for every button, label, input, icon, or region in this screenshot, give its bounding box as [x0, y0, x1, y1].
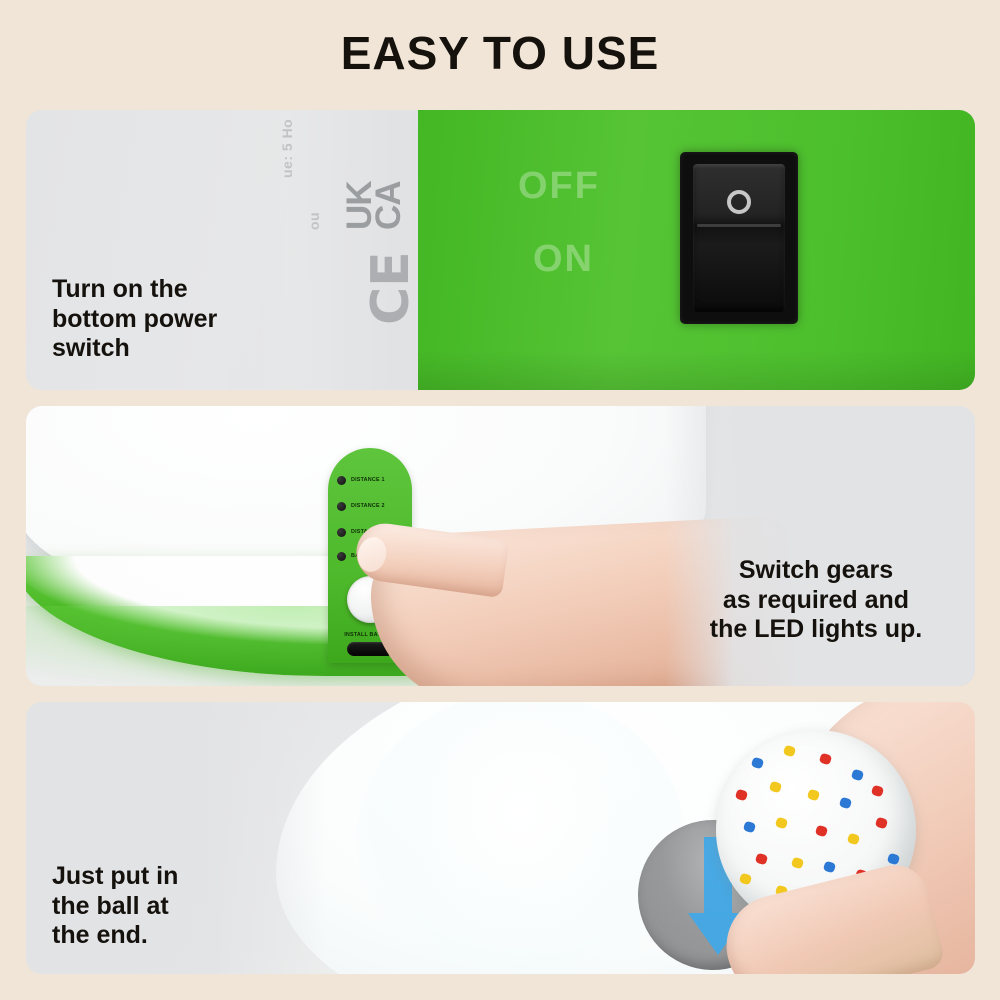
step-1-caption: Turn on the bottom power switch — [52, 275, 302, 364]
ukca-mark: UK CA — [346, 181, 403, 230]
switch-on-label: ON — [533, 238, 594, 281]
device-green-housing: OFF ON — [418, 110, 975, 390]
ball-dot — [839, 797, 853, 810]
ball-dot — [847, 833, 861, 846]
ball-dot — [755, 853, 769, 866]
ball-dot — [783, 745, 797, 758]
ball-dot — [887, 853, 901, 866]
step-panel-1: UK CA CE ou ue: 5 Ho ns OFF ON Turn on t… — [26, 110, 975, 390]
poster-root: EASY TO USE UK CA CE ou ue: 5 Ho ns OFF … — [0, 0, 1000, 1000]
led-indicator-row-2: DISTANCE 2 — [337, 502, 385, 511]
step-3-caption: Just put in the ball at the end. — [52, 862, 302, 951]
ball-dot — [775, 817, 789, 830]
step-2-caption: Switch gears as required and the LED lig… — [671, 556, 961, 645]
led-dot-icon — [337, 502, 346, 511]
ball-dot — [819, 753, 833, 766]
ce-mark-icon: CE — [361, 251, 421, 325]
led-dot-icon — [337, 476, 346, 485]
ball-dot — [815, 825, 829, 838]
power-circle-icon — [727, 190, 751, 214]
led-label-2: DISTANCE 2 — [351, 503, 385, 510]
led-dot-icon — [337, 552, 346, 561]
ball-dot — [735, 789, 749, 802]
switch-off-label: OFF — [518, 165, 600, 208]
step-panel-2: DISTANCE 1 DISTANCE 2 DISTANCE 3 BATTERY… — [26, 406, 975, 686]
label-fine-print-1: ou — [306, 212, 322, 230]
label-fine-print-2: ue: 5 Ho — [279, 119, 295, 178]
ball-dot — [769, 781, 783, 794]
ball-dot — [743, 821, 757, 834]
led-label-1: DISTANCE 1 — [351, 477, 385, 484]
ball-dot — [791, 857, 805, 870]
ball-dot — [751, 757, 765, 770]
ball-dot — [871, 785, 885, 798]
ball-dot — [875, 817, 889, 830]
power-switch-plate[interactable] — [680, 152, 798, 324]
ukca-line-2: CA — [369, 181, 408, 230]
ball-dot — [807, 789, 821, 802]
ball-dot — [823, 861, 837, 874]
page-title: EASY TO USE — [0, 26, 1000, 80]
step-panel-3: Just put in the ball at the end. — [26, 702, 975, 974]
rocker-switch[interactable] — [693, 164, 785, 312]
housing-shadow — [418, 350, 975, 390]
shell-highlight — [356, 702, 686, 974]
ball-dot — [739, 873, 753, 886]
ball-dot — [851, 769, 865, 782]
led-indicator-row-1: DISTANCE 1 — [337, 476, 385, 485]
led-dot-icon — [337, 528, 346, 537]
